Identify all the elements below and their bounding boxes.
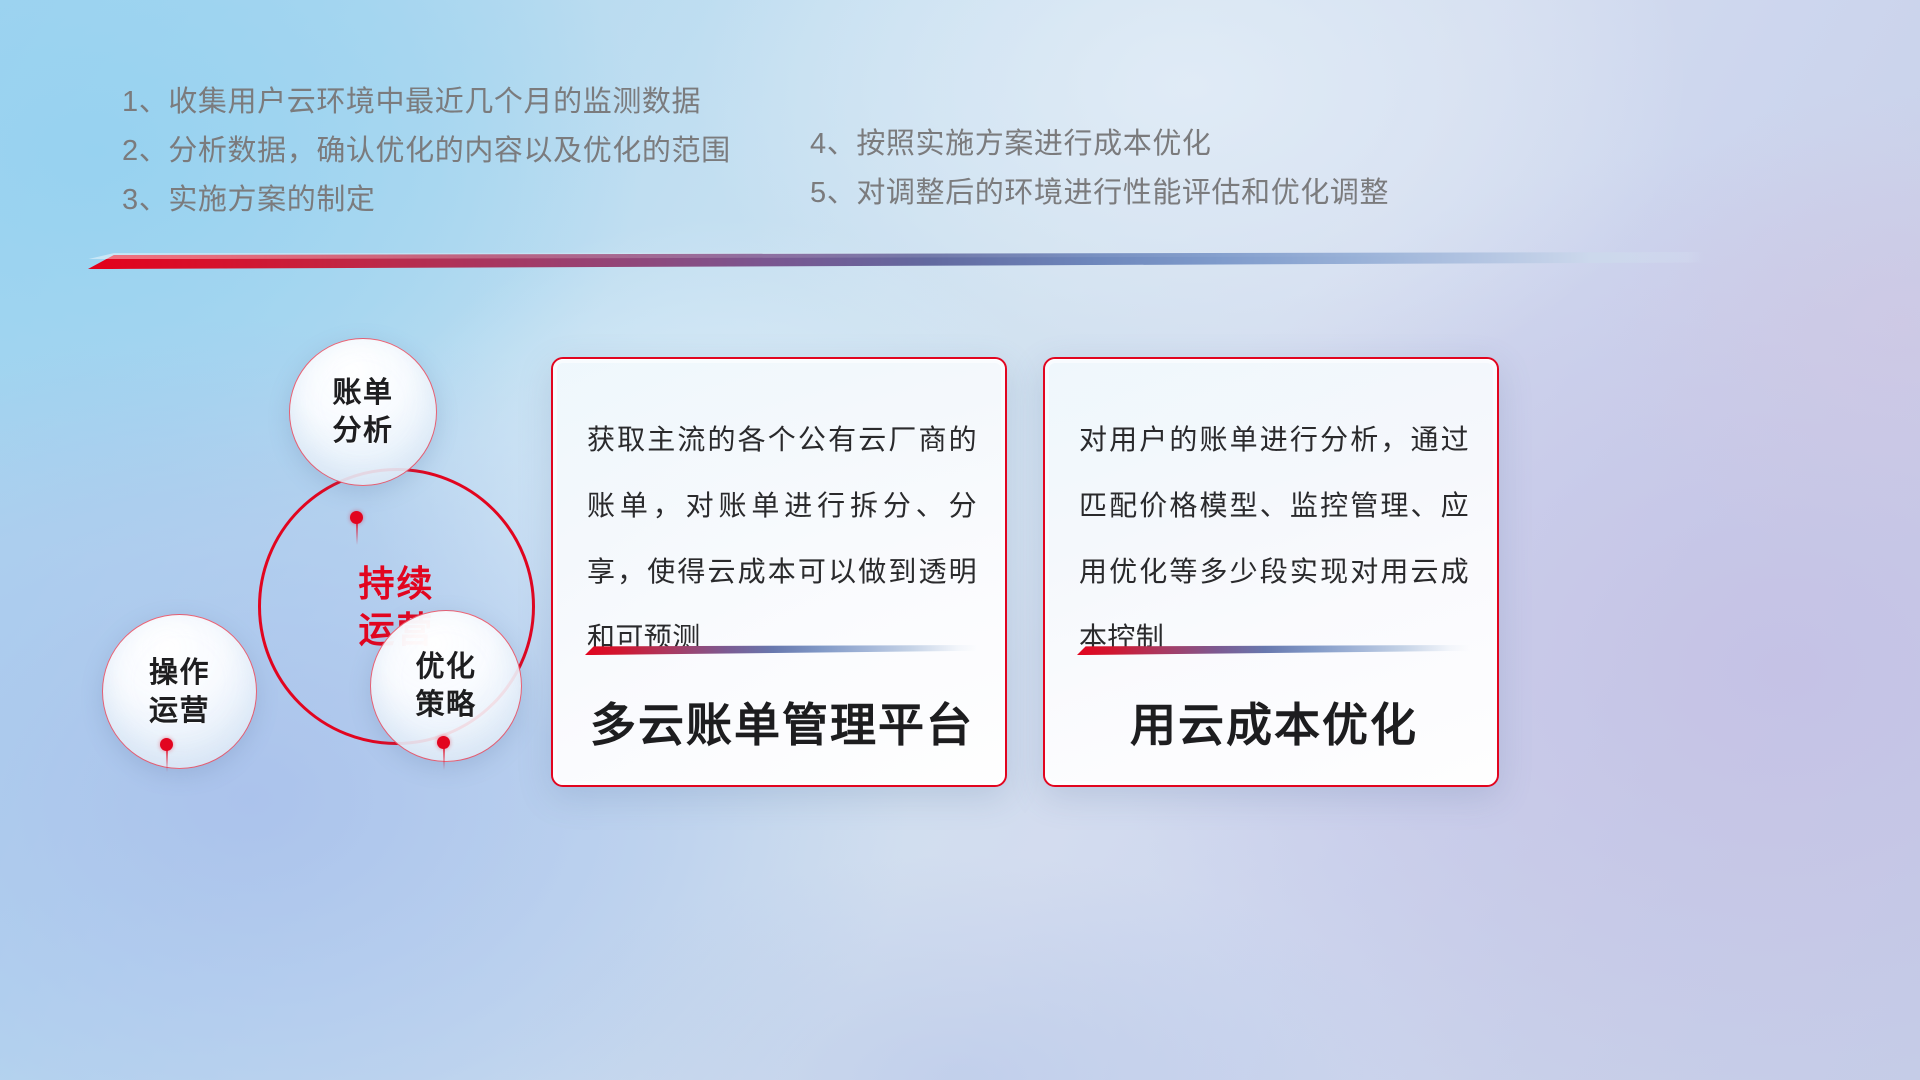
diagram-bubble-bill-analysis[interactable]: 账单 分析 xyxy=(289,338,437,486)
steps-section: 1、收集用户云环境中最近几个月的监测数据 2、分析数据，确认优化的内容以及优化的… xyxy=(0,78,1920,268)
card-cloud-cost-optimization[interactable]: 对用户的账单进行分析，通过匹配价格模型、监控管理、应用优化等多少段实现对用云成本… xyxy=(1043,357,1499,787)
step-item-4: 4、按照实施方案进行成本优化 xyxy=(810,120,1389,169)
diagram-node-dot-top xyxy=(350,511,363,524)
step-item-2: 2、分析数据，确认优化的内容以及优化的范围 xyxy=(122,127,731,176)
section-divider xyxy=(88,252,1704,269)
bubble-left-text: 操作 运营 xyxy=(149,654,210,730)
card-multi-cloud-billing-platform[interactable]: 获取主流的各个公有云厂商的账单，对账单进行拆分、分享，使得云成本可以做到透明和可… xyxy=(551,357,1007,787)
card-1-title: 多云账单管理平台 xyxy=(583,689,981,755)
diagram-center-label-line1: 持续 xyxy=(358,561,434,607)
card-2-title: 用云成本优化 xyxy=(1075,689,1473,755)
bubble-right-line2: 策略 xyxy=(415,686,476,724)
bubble-left-line2: 运营 xyxy=(149,692,210,730)
card-2-description: 对用户的账单进行分析，通过匹配价格模型、监控管理、应用优化等多少段实现对用云成本… xyxy=(1079,407,1469,671)
steps-left-column: 1、收集用户云环境中最近几个月的监测数据 2、分析数据，确认优化的内容以及优化的… xyxy=(122,78,731,225)
diagram-node-dot-right xyxy=(437,736,450,749)
bubble-right-text: 优化 策略 xyxy=(415,648,476,724)
step-item-5: 5、对调整后的环境进行性能评估和优化调整 xyxy=(810,169,1389,218)
card-1-description: 获取主流的各个公有云厂商的账单，对账单进行拆分、分享，使得云成本可以做到透明和可… xyxy=(587,407,977,671)
continuous-operations-diagram: 持续 运营 账单 分析 操作 运营 优化 策略 xyxy=(70,338,630,958)
steps-right-column: 4、按照实施方案进行成本优化 5、对调整后的环境进行性能评估和优化调整 xyxy=(810,120,1389,218)
bubble-top-line2: 分析 xyxy=(332,412,393,450)
bubble-top-text: 账单 分析 xyxy=(332,374,393,450)
diagram-connector-left xyxy=(166,750,168,772)
diagram-connector-top xyxy=(356,523,358,545)
bubble-left-line1: 操作 xyxy=(149,654,210,692)
bubble-right-line1: 优化 xyxy=(415,648,476,686)
diagram-connector-right xyxy=(443,748,445,770)
step-item-3: 3、实施方案的制定 xyxy=(122,176,731,225)
bubble-top-line1: 账单 xyxy=(332,374,393,412)
step-item-1: 1、收集用户云环境中最近几个月的监测数据 xyxy=(122,78,731,127)
diagram-bubble-operations[interactable]: 操作 运营 xyxy=(102,614,257,769)
diagram-node-dot-left xyxy=(160,738,173,751)
